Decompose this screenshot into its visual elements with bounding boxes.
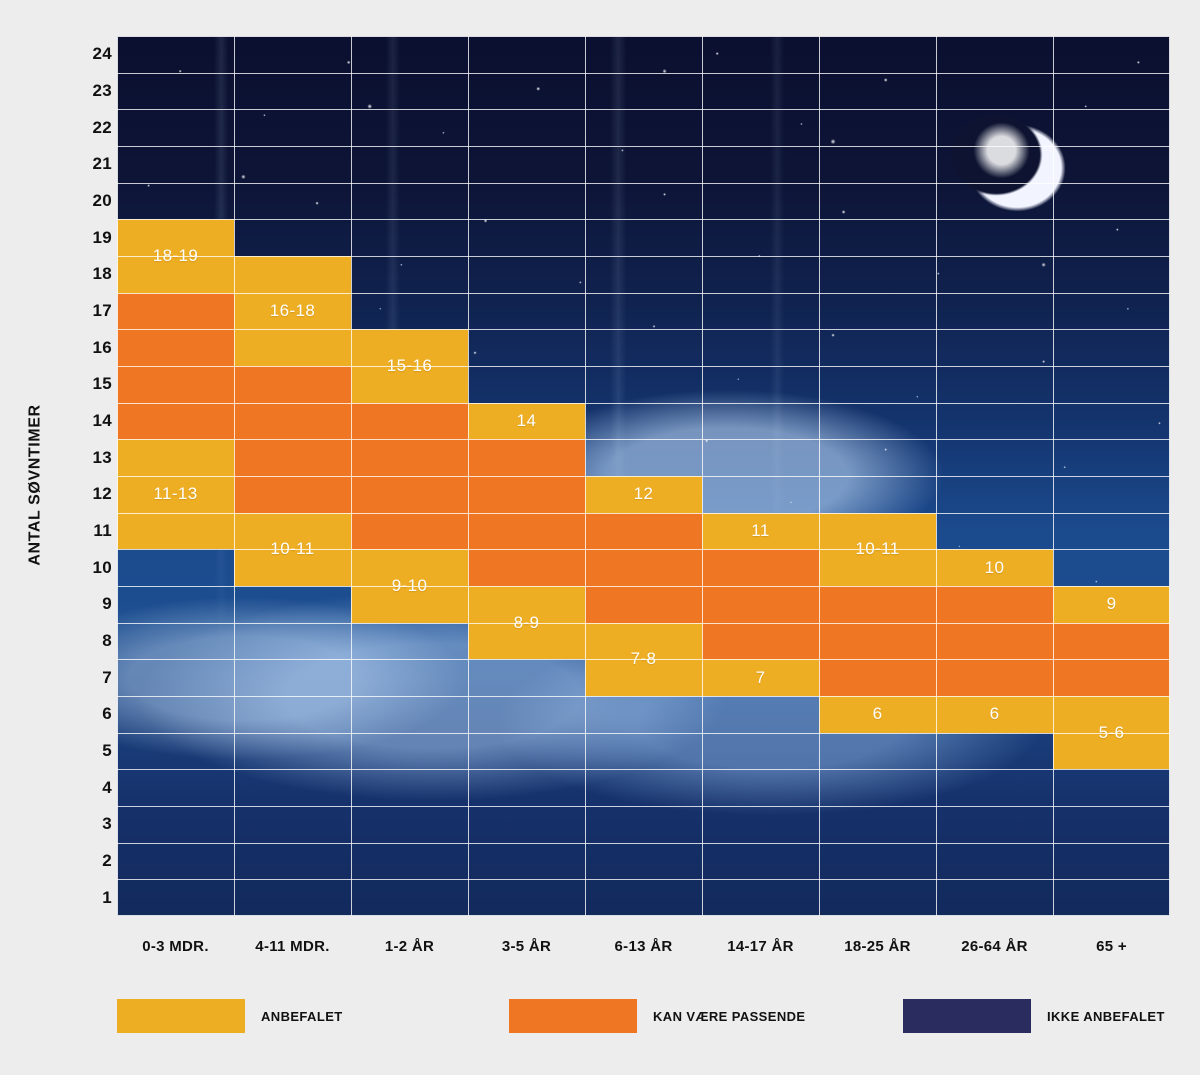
y-tick-label: 22: [60, 118, 112, 138]
legend-item: ANBEFALET: [117, 998, 343, 1034]
y-tick-label: 10: [60, 558, 112, 578]
y-tick-label: 21: [60, 154, 112, 174]
plot-border: [117, 36, 1170, 916]
y-tick-label: 19: [60, 228, 112, 248]
y-tick-label: 9: [60, 594, 112, 614]
sleep-hours-chart: ANTAL SØVNTIMER 242322212019181716151413…: [0, 0, 1200, 1075]
plot-area: 18-1911-1316-1810-1115-169-10148-9127-81…: [117, 36, 1170, 916]
y-tick-label: 8: [60, 631, 112, 651]
legend-item: IKKE ANBEFALET: [903, 998, 1165, 1034]
y-tick-label: 20: [60, 191, 112, 211]
y-tick-label: 15: [60, 374, 112, 394]
y-tick-label: 14: [60, 411, 112, 431]
y-tick-label: 11: [60, 521, 112, 541]
y-tick-label: 16: [60, 338, 112, 358]
y-axis-title: ANTAL SØVNTIMER: [20, 345, 52, 625]
y-tick-label: 17: [60, 301, 112, 321]
legend-label: KAN VÆRE PASSENDE: [653, 1009, 805, 1024]
legend-color-swatch: [117, 999, 245, 1033]
y-tick-label: 7: [60, 668, 112, 688]
legend-label: IKKE ANBEFALET: [1047, 1009, 1165, 1024]
y-axis-ticks: 242322212019181716151413121110987654321: [60, 36, 112, 916]
legend-color-swatch: [903, 999, 1031, 1033]
y-tick-label: 1: [60, 888, 112, 908]
y-tick-label: 6: [60, 704, 112, 724]
x-tick-label: 6-13 ÅR: [615, 938, 673, 955]
legend-color-swatch: [509, 999, 637, 1033]
x-tick-label: 3-5 ÅR: [502, 938, 551, 955]
x-tick-label: 4-11 MDR.: [255, 938, 329, 955]
x-tick-label: 1-2 ÅR: [385, 938, 434, 955]
y-tick-label: 5: [60, 741, 112, 761]
y-tick-label: 12: [60, 484, 112, 504]
x-tick-label: 14-17 ÅR: [727, 938, 794, 955]
x-tick-label: 65 +: [1096, 938, 1127, 955]
legend: ANBEFALETKAN VÆRE PASSENDEIKKE ANBEFALET: [117, 998, 1170, 1034]
y-axis-title-text: ANTAL SØVNTIMER: [27, 404, 45, 565]
y-tick-label: 13: [60, 448, 112, 468]
x-tick-label: 0-3 MDR.: [142, 938, 209, 955]
x-axis-labels: 0-3 MDR.4-11 MDR.1-2 ÅR3-5 ÅR6-13 ÅR14-1…: [117, 938, 1170, 968]
y-tick-label: 2: [60, 851, 112, 871]
y-tick-label: 18: [60, 264, 112, 284]
legend-item: KAN VÆRE PASSENDE: [509, 998, 805, 1034]
legend-label: ANBEFALET: [261, 1009, 343, 1024]
y-tick-label: 4: [60, 778, 112, 798]
y-tick-label: 3: [60, 814, 112, 834]
y-tick-label: 23: [60, 81, 112, 101]
x-tick-label: 18-25 ÅR: [844, 938, 911, 955]
x-tick-label: 26-64 ÅR: [961, 938, 1028, 955]
y-tick-label: 24: [60, 44, 112, 64]
